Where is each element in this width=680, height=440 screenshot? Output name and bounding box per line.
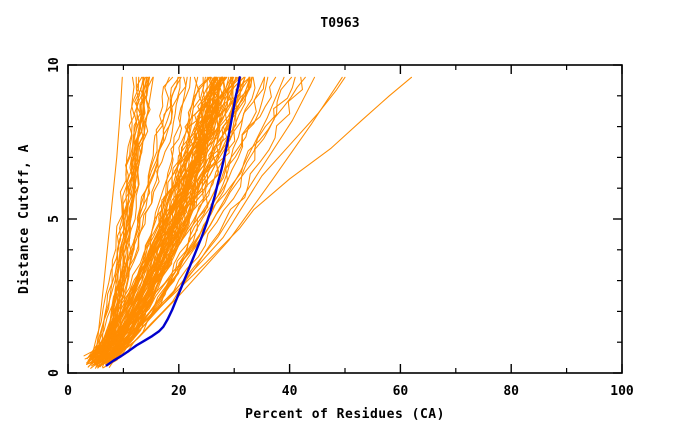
- plot-area-background: [68, 65, 622, 373]
- x-tick-label: 100: [610, 384, 634, 399]
- chart-figure: 020406080100 0510 T0963 Percent of Resid…: [0, 0, 680, 440]
- chart-title: T0963: [320, 16, 359, 31]
- y-tick-label: 0: [47, 369, 62, 377]
- x-tick-label: 0: [64, 384, 72, 399]
- chart-canvas: 020406080100 0510 T0963 Percent of Resid…: [0, 0, 680, 440]
- x-axis-tick-labels: 020406080100: [64, 384, 634, 399]
- x-tick-label: 20: [171, 384, 187, 399]
- x-tick-label: 40: [282, 384, 298, 399]
- x-tick-label: 80: [503, 384, 519, 399]
- y-tick-label: 10: [47, 57, 62, 73]
- y-axis-title: Distance Cutoff, A: [17, 144, 32, 294]
- x-axis-title: Percent of Residues (CA): [245, 407, 445, 422]
- y-tick-label: 5: [47, 215, 62, 223]
- x-tick-label: 60: [393, 384, 409, 399]
- y-axis-tick-labels: 0510: [47, 57, 62, 377]
